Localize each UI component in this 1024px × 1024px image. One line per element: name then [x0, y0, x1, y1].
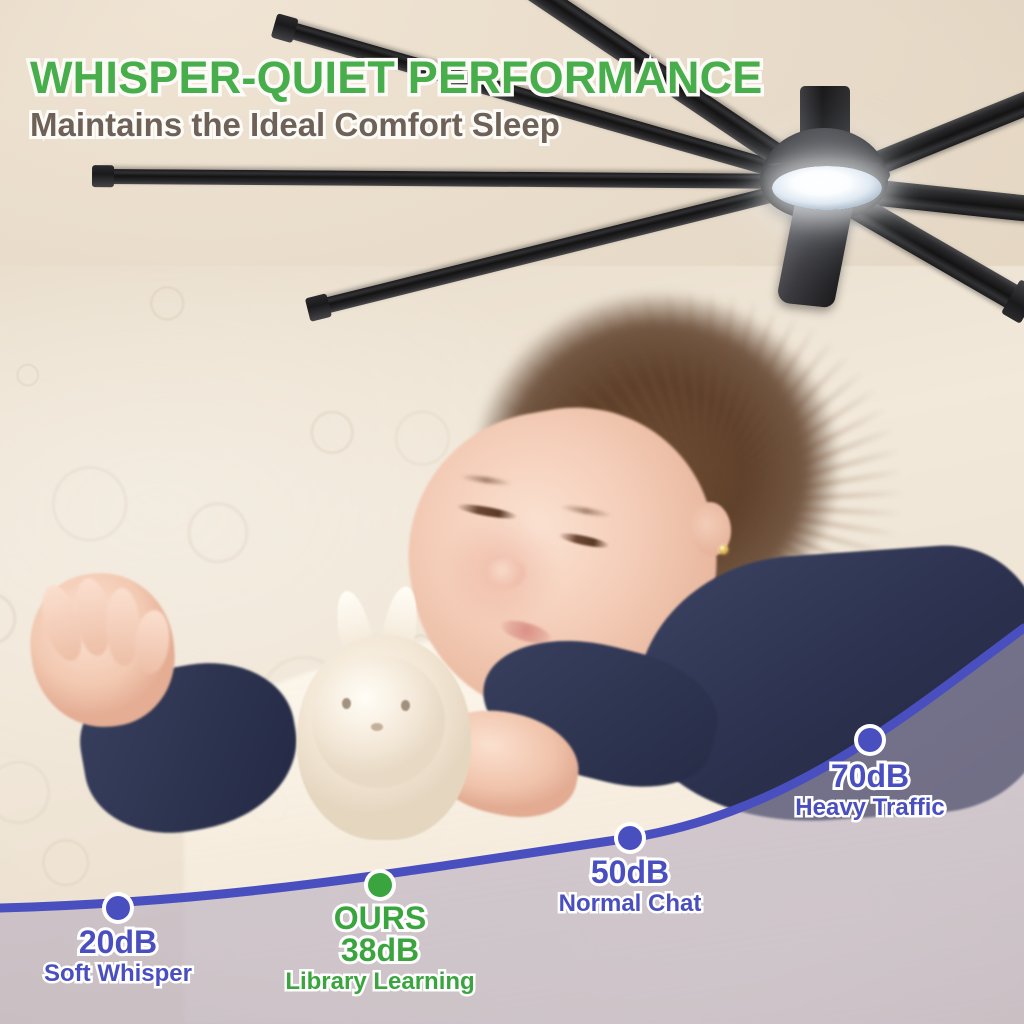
- data-label-name: Soft Whisper: [44, 962, 192, 986]
- data-label-name: Heavy Traffic: [795, 796, 944, 820]
- noise-level-chart: 20dB Soft Whisper OURS 38dB Library Lear…: [0, 0, 1024, 1024]
- data-label-prefix: OURS: [285, 902, 474, 934]
- data-label-db: 70dB: [795, 760, 944, 792]
- data-point-marker: [858, 728, 882, 752]
- data-label-name: Normal Chat: [559, 892, 702, 916]
- data-point-marker: [618, 826, 642, 850]
- data-label-db: 38dB: [285, 934, 474, 966]
- data-point-marker-highlight: [368, 873, 392, 897]
- data-point-marker: [106, 896, 130, 920]
- chart-markers: [0, 0, 1024, 1024]
- data-label-db: 20dB: [44, 926, 192, 958]
- data-label-heavy-traffic: 70dB Heavy Traffic: [795, 760, 944, 820]
- data-label-db: 50dB: [559, 856, 702, 888]
- data-label-normal-chat: 50dB Normal Chat: [559, 856, 702, 916]
- data-label-soft-whisper: 20dB Soft Whisper: [44, 926, 192, 986]
- data-label-ours: OURS 38dB Library Learning: [285, 902, 474, 994]
- product-infographic-poster: WHISPER-QUIET PERFORMANCE Maintains the …: [0, 0, 1024, 1024]
- data-label-name: Library Learning: [285, 970, 474, 994]
